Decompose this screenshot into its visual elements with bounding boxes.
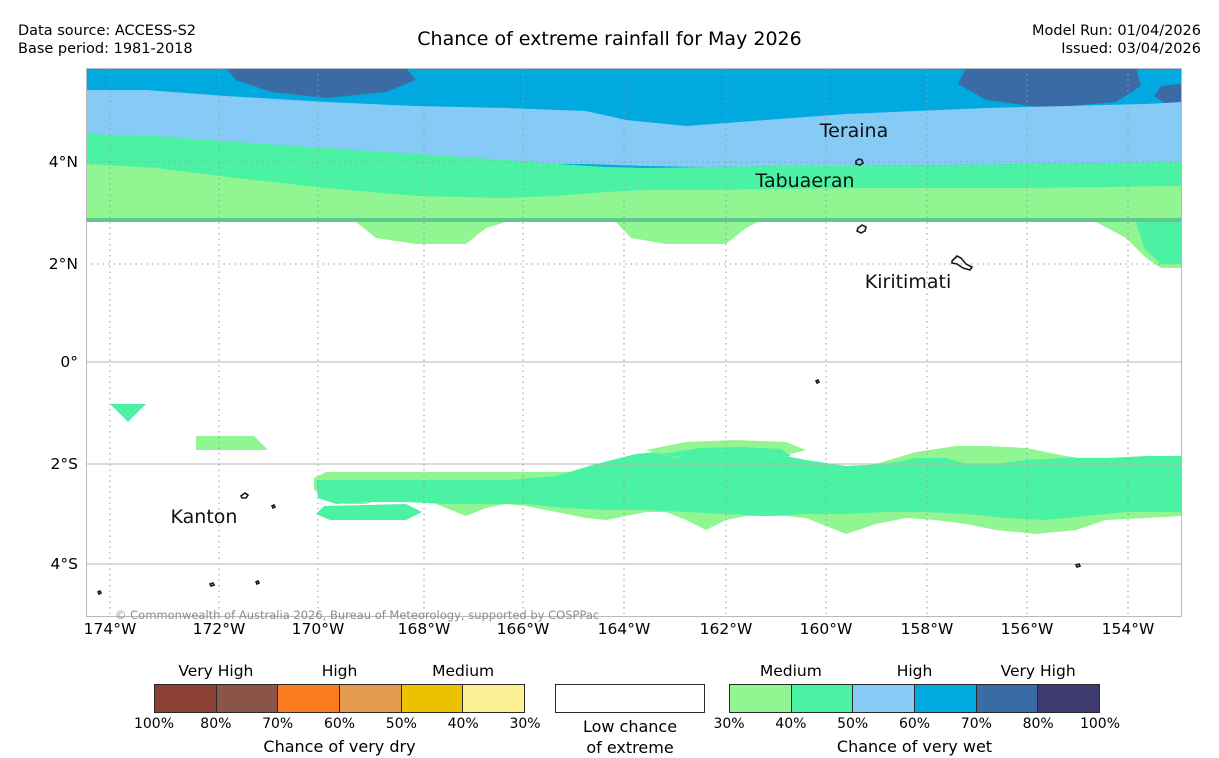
x-tick-label: 168°W	[398, 620, 451, 638]
legend-wet-category: Medium	[760, 662, 822, 680]
legend-dry-swatch-70-60[interactable]	[278, 685, 340, 712]
x-tick-label: 172°W	[193, 620, 246, 638]
legend-dry-tick: 40%	[448, 716, 479, 732]
legend-dry-category: High	[322, 662, 358, 680]
island-enderbury	[272, 505, 275, 508]
y-tick-label: 4°S	[51, 555, 78, 573]
legend-very-dry: Very High High Medium 100% 80% 70% 60% 5…	[154, 662, 525, 756]
issued-text: Issued: 03/04/2026	[1032, 40, 1201, 58]
y-tick-label: 0°	[60, 353, 78, 371]
x-tick-label: 158°W	[901, 620, 954, 638]
legend-low-title-line2: of extreme	[555, 737, 705, 758]
legend-wet-swatch-50-60[interactable]	[853, 685, 915, 712]
legend-dry-tick: 80%	[200, 716, 231, 732]
legend-low-chance: Low chance of extreme	[555, 662, 705, 758]
legend-wet-tick: 80%	[1023, 716, 1054, 732]
legend-dry-ticks: 100% 80% 70% 60% 50% 40% 30%	[154, 713, 525, 733]
legend-wet-tick: 30%	[713, 716, 744, 732]
x-tick-label: 162°W	[700, 620, 753, 638]
legend-wet-swatch-30-40[interactable]	[730, 685, 792, 712]
legend-wet-tick: 70%	[961, 716, 992, 732]
x-tick-label: 156°W	[1001, 620, 1054, 638]
legend-dry-colorbar[interactable]	[154, 684, 525, 713]
legend-wet-swatch-60-70[interactable]	[915, 685, 977, 712]
contour-boundary-line-4n	[86, 218, 1182, 222]
x-tick-label: 160°W	[800, 620, 853, 638]
island-small-sw	[98, 591, 101, 594]
contour-patch-triangle-174w	[110, 404, 146, 422]
legend-dry-swatch-80-70[interactable]	[217, 685, 279, 712]
map-canvas	[86, 68, 1182, 617]
island-small-equator	[816, 380, 819, 383]
legend-wet-swatch-80-100[interactable]	[1038, 685, 1099, 712]
x-tick-label: 166°W	[497, 620, 550, 638]
legend-wet-tick: 50%	[837, 716, 868, 732]
legend-dry-tick: 30%	[509, 716, 540, 732]
legend-dry-tick: 70%	[262, 716, 293, 732]
legend-wet-tick: 100%	[1080, 716, 1120, 732]
legend-dry-swatch-100-80[interactable]	[155, 685, 217, 712]
legend-dry-title: Chance of very dry	[154, 737, 525, 756]
legend-dry-tick: 100%	[134, 716, 174, 732]
legend-wet-category: Very High	[1001, 662, 1076, 680]
legend-low-title: Low chance of extreme	[555, 716, 705, 758]
legend-wet-tick: 60%	[899, 716, 930, 732]
legend-dry-swatch-60-50[interactable]	[340, 685, 402, 712]
island-kiritimati	[952, 256, 972, 270]
x-tick-label: 174°W	[84, 620, 137, 638]
legend-very-wet: Medium High Very High 30% 40% 50% 60% 70…	[729, 662, 1100, 756]
legend-wet-swatch-70-80[interactable]	[977, 685, 1039, 712]
map-panel: Teraina Tabuaeran Kiritimati Kanton © Co…	[86, 68, 1182, 617]
place-label-teraina: Teraina	[820, 120, 889, 142]
rainfall-contour-plot	[86, 68, 1182, 617]
legend-dry-swatch-40-30[interactable]	[463, 685, 524, 712]
x-tick-label: 170°W	[292, 620, 345, 638]
contour-wet-30-40-south-of-4n	[86, 222, 1182, 268]
legend-low-title-line1: Low chance	[555, 716, 705, 737]
legend-wet-category: High	[897, 662, 933, 680]
island-small-s1	[210, 583, 214, 586]
island-tabuaeran	[857, 225, 866, 233]
legend-wet-title: Chance of very wet	[729, 737, 1100, 756]
y-tick-label: 4°N	[49, 153, 78, 171]
place-label-kiritimati: Kiritimati	[865, 271, 951, 293]
island-kanton	[241, 493, 248, 498]
y-tick-label: 2°S	[51, 455, 78, 473]
legend-wet-ticks: 30% 40% 50% 60% 70% 80% 100%	[729, 713, 1100, 733]
legend-wet-swatch-40-50[interactable]	[792, 685, 854, 712]
x-tick-label: 164°W	[598, 620, 651, 638]
island-small-s2	[256, 581, 259, 584]
legend-dry-tick: 50%	[386, 716, 417, 732]
place-label-tabuaeran: Tabuaeran	[755, 170, 854, 192]
legend-dry-category: Medium	[432, 662, 494, 680]
x-tick-label: 154°W	[1102, 620, 1155, 638]
contour-wet-40-50-south-core	[316, 450, 1182, 520]
contour-patch-bar-172w	[196, 436, 268, 450]
y-tick-label: 2°N	[49, 255, 78, 273]
legend-dry-category: Very High	[178, 662, 253, 680]
header-right-block: Model Run: 01/04/2026 Issued: 03/04/2026	[1032, 22, 1201, 58]
island-small-se	[1076, 564, 1080, 567]
legend-dry-swatch-50-40[interactable]	[402, 685, 464, 712]
place-label-kanton: Kanton	[171, 506, 238, 528]
legend-low-swatch[interactable]	[555, 684, 705, 713]
model-run-text: Model Run: 01/04/2026	[1032, 22, 1201, 40]
legend-wet-colorbar[interactable]	[729, 684, 1100, 713]
legend-dry-categories: Very High High Medium	[154, 662, 525, 684]
island-outlines	[98, 159, 1080, 594]
legend-dry-tick: 60%	[324, 716, 355, 732]
legend-wet-tick: 40%	[775, 716, 806, 732]
legend-wet-categories: Medium High Very High	[729, 662, 1100, 684]
